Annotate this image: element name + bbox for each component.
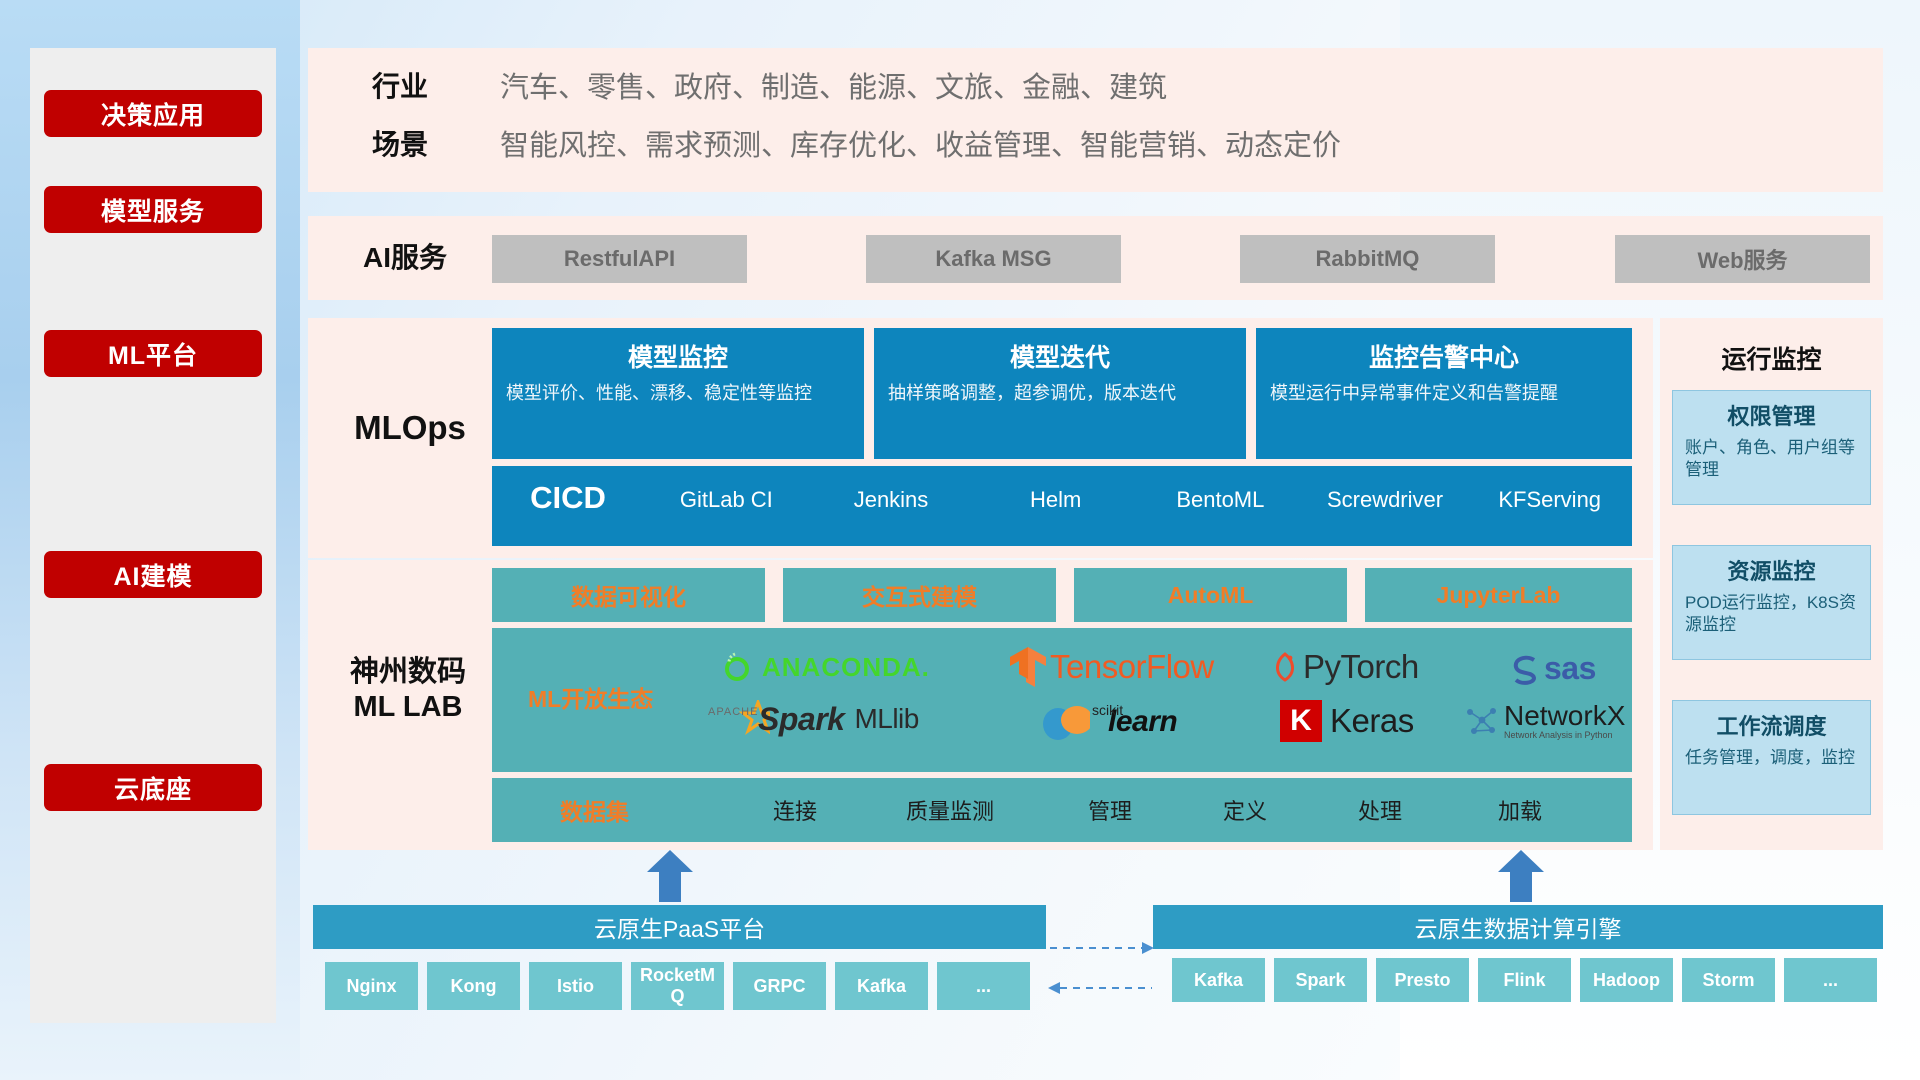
scene-label: 场景 <box>330 120 470 170</box>
anaconda-logo: ANACONDA. <box>722 650 930 684</box>
compute-chip-storm[interactable]: Storm <box>1682 958 1775 1002</box>
sas-logo-text: sas <box>1544 650 1596 687</box>
rail-item-ai-modeling[interactable]: AI建模 <box>44 551 262 598</box>
rail-item-cloud-base[interactable]: 云底座 <box>44 764 262 811</box>
ai-service-item-rabbitmq[interactable]: RabbitMQ <box>1240 235 1495 283</box>
scikit-text: scikit <box>1092 702 1123 718</box>
monitoring-card-workflow[interactable]: 工作流调度 任务管理，调度，监控 <box>1672 700 1871 815</box>
spark-mllib-logo: APACHE Spark MLlib <box>730 700 919 738</box>
pytorch-mark <box>1270 649 1300 685</box>
rail-item-decision-app[interactable]: 决策应用 <box>44 90 262 137</box>
paas-chip-more[interactable]: ... <box>937 962 1030 1010</box>
scikit-learn-mark <box>1040 700 1090 744</box>
dataset-item-definition[interactable]: 定义 <box>1190 790 1300 830</box>
paas-chip-nginx[interactable]: Nginx <box>325 962 418 1010</box>
paas-chip-kong[interactable]: Kong <box>427 962 520 1010</box>
dataset-item-management[interactable]: 管理 <box>1055 790 1165 830</box>
cloud-paas-bar[interactable]: 云原生PaaS平台 <box>313 905 1046 949</box>
networkx-mark <box>1462 702 1500 740</box>
rail-item-model-service[interactable]: 模型服务 <box>44 186 262 233</box>
mlops-card-title: 模型监控 <box>506 338 850 374</box>
compute-chip-presto[interactable]: Presto <box>1376 958 1469 1002</box>
mlops-card-model-iteration[interactable]: 模型迭代 抽样策略调整，超参调优，版本迭代 <box>874 328 1246 459</box>
mllab-label: 神州数码 ML LAB <box>318 650 498 730</box>
cicd-item-jenkins[interactable]: Jenkins <box>809 466 974 515</box>
compute-chip-flink[interactable]: Flink <box>1478 958 1571 1002</box>
cicd-item-bentoml[interactable]: BentoML <box>1138 466 1303 515</box>
networkx-tagline: Network Analysis in Python <box>1504 730 1625 740</box>
mlops-card-desc: 模型运行中异常事件定义和告警提醒 <box>1270 382 1618 405</box>
sas-logo: sas <box>1508 650 1596 687</box>
ai-service-item-web-service[interactable]: Web服务 <box>1615 235 1870 283</box>
keras-logo: K Keras <box>1280 700 1414 742</box>
spark-logo-text: Spark <box>758 701 844 738</box>
spark-apache-text: APACHE <box>708 706 758 718</box>
mllab-label-line1: 神州数码 <box>350 655 466 690</box>
mlops-card-alert-center[interactable]: 监控告警中心 模型运行中异常事件定义和告警提醒 <box>1256 328 1632 459</box>
ai-service-item-kafka-msg[interactable]: Kafka MSG <box>866 235 1121 283</box>
architecture-diagram: 决策应用 模型服务 ML平台 AI建模 云底座 行业 汽车、零售、政府、制造、能… <box>0 0 1920 1080</box>
networkx-logo-text: NetworkX <box>1504 702 1625 730</box>
cloud-connector-arrows <box>1046 930 1156 1000</box>
compute-chip-hadoop[interactable]: Hadoop <box>1580 958 1673 1002</box>
mlops-card-desc: 抽样策略调整，超参调优，版本迭代 <box>888 382 1232 405</box>
cicd-label: CICD <box>492 466 644 516</box>
dataset-label: 数据集 <box>560 790 700 830</box>
mlops-card-desc: 模型评价、性能、漂移、稳定性等监控 <box>506 382 850 405</box>
tensorflow-logo-text: TensorFlow <box>1050 648 1214 686</box>
mllab-tool-jupyterlab[interactable]: JupyterLab <box>1365 568 1632 622</box>
tensorflow-logo: TensorFlow <box>1008 645 1214 689</box>
monitoring-card-desc: 任务管理，调度，监控 <box>1685 747 1858 769</box>
cicd-item-kfserving[interactable]: KFServing <box>1467 466 1632 515</box>
mllib-logo-text: MLlib <box>854 703 918 735</box>
networkx-logo: NetworkX Network Analysis in Python <box>1462 702 1625 740</box>
mllab-tool-data-visualization[interactable]: 数据可视化 <box>492 568 765 622</box>
anaconda-mark <box>722 650 756 684</box>
pytorch-logo-text: PyTorch <box>1303 648 1419 686</box>
tensorflow-mark <box>1008 645 1048 689</box>
paas-chip-rocketmq[interactable]: RocketMQ <box>631 962 724 1010</box>
cicd-item-helm[interactable]: Helm <box>973 466 1138 515</box>
arrow-up-compute-icon <box>1496 850 1546 902</box>
paas-chip-grpc[interactable]: GRPC <box>733 962 826 1010</box>
mlops-card-title: 模型迭代 <box>888 338 1232 374</box>
cloud-compute-bar[interactable]: 云原生数据计算引擎 <box>1153 905 1883 949</box>
compute-chip-kafka[interactable]: Kafka <box>1172 958 1265 1002</box>
monitoring-card-title: 资源监控 <box>1685 554 1858 586</box>
scene-value: 智能风控、需求预测、库存优化、收益管理、智能营销、动态定价 <box>500 122 1830 164</box>
cicd-item-gitlab-ci[interactable]: GitLab CI <box>644 466 809 515</box>
monitoring-panel: 运行监控 权限管理 账户、角色、用户组等管理 资源监控 POD运行监控，K8S资… <box>1660 318 1883 850</box>
mlops-card-title: 监控告警中心 <box>1270 338 1618 374</box>
cicd-item-screwdriver[interactable]: Screwdriver <box>1303 466 1468 515</box>
monitoring-card-permission[interactable]: 权限管理 账户、角色、用户组等管理 <box>1672 390 1871 505</box>
mlops-label: MLOps <box>330 400 490 456</box>
industry-value: 汽车、零售、政府、制造、能源、文旅、金融、建筑 <box>500 64 1830 106</box>
rail-item-ml-platform[interactable]: ML平台 <box>44 330 262 377</box>
compute-chip-more[interactable]: ... <box>1784 958 1877 1002</box>
keras-logo-text: Keras <box>1330 702 1414 740</box>
mlops-card-model-monitor[interactable]: 模型监控 模型评价、性能、漂移、稳定性等监控 <box>492 328 864 459</box>
scikit-learn-logo: scikit learn <box>1040 700 1177 744</box>
anaconda-logo-text: ANACONDA. <box>762 652 930 683</box>
paas-chip-kafka[interactable]: Kafka <box>835 962 928 1010</box>
ai-service-item-restfulapi[interactable]: RestfulAPI <box>492 235 747 283</box>
dataset-item-processing[interactable]: 处理 <box>1325 790 1435 830</box>
monitoring-card-desc: 账户、角色、用户组等管理 <box>1685 437 1858 482</box>
mllab-tool-interactive-modeling[interactable]: 交互式建模 <box>783 568 1056 622</box>
dataset-item-quality-monitoring[interactable]: 质量监测 <box>880 790 1020 830</box>
cicd-bar: CICD GitLab CI Jenkins Helm BentoML Scre… <box>492 466 1632 546</box>
arrow-up-paas-icon <box>645 850 695 902</box>
ai-service-label: AI服务 <box>330 234 480 282</box>
keras-mark: K <box>1280 700 1322 742</box>
monitoring-card-resource[interactable]: 资源监控 POD运行监控，K8S资源监控 <box>1672 545 1871 660</box>
monitoring-card-title: 权限管理 <box>1685 399 1858 431</box>
mllab-label-line2: ML LAB <box>353 690 462 725</box>
dataset-item-connect[interactable]: 连接 <box>740 790 850 830</box>
monitoring-card-title: 工作流调度 <box>1685 709 1858 741</box>
sas-mark <box>1508 652 1542 686</box>
compute-chip-spark[interactable]: Spark <box>1274 958 1367 1002</box>
left-rail: 决策应用 模型服务 ML平台 AI建模 云底座 <box>30 48 276 1023</box>
industry-label: 行业 <box>330 62 470 112</box>
monitoring-title: 运行监控 <box>1660 340 1883 376</box>
dataset-item-loading[interactable]: 加载 <box>1465 790 1575 830</box>
paas-chip-istio[interactable]: Istio <box>529 962 622 1010</box>
pytorch-logo: PyTorch <box>1270 648 1419 686</box>
monitoring-card-desc: POD运行监控，K8S资源监控 <box>1685 592 1858 637</box>
mllab-tool-automl[interactable]: AutoML <box>1074 568 1347 622</box>
